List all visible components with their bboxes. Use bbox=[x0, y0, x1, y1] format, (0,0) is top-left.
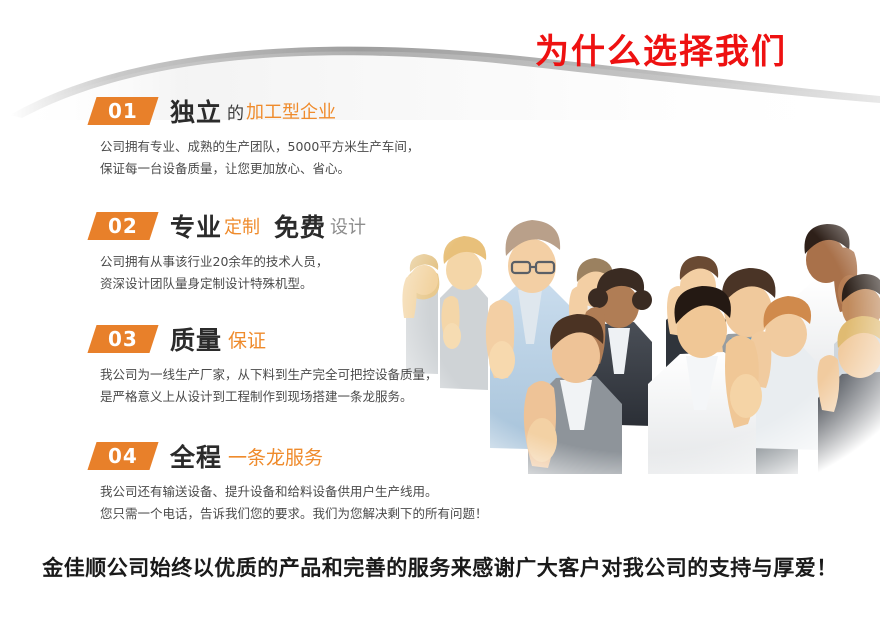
feature-number: 01 bbox=[108, 99, 138, 123]
feature-title-strong: 质量 bbox=[170, 321, 222, 357]
feature-body-line: 是严格意义上从设计到工程制作到现场搭建一条龙服务。 bbox=[100, 386, 512, 408]
feature-number: 02 bbox=[108, 214, 138, 238]
feature-title-accent: 一条龙服务 bbox=[228, 443, 323, 470]
feature-body: 我公司还有输送设备、提升设备和给料设备供用户生产线用。 您只需一个电话，告诉我们… bbox=[100, 481, 512, 525]
feature-number: 03 bbox=[108, 327, 138, 351]
feature-title-strong: 独立 bbox=[170, 93, 222, 129]
feature-number: 04 bbox=[108, 444, 138, 468]
feature-body-line: 我公司还有输送设备、提升设备和给料设备供用户生产线用。 bbox=[100, 481, 512, 503]
feature-item-01: 01 独立 的 加工型企业 公司拥有专业、成熟的生产团队，5000平方米生产车间… bbox=[92, 95, 512, 180]
team-thumbs-up-photo bbox=[398, 148, 880, 474]
feature-title-secondary-strong: 免费 bbox=[274, 208, 326, 244]
feature-heading: 01 独立 的 加工型企业 bbox=[92, 95, 512, 127]
feature-body-line: 我公司为一线生产厂家，从下料到生产完全可把控设备质量， bbox=[100, 364, 512, 386]
feature-number-badge: 01 bbox=[87, 97, 158, 125]
feature-item-02: 02 专业 定制 免费 设计 公司拥有从事该行业20余年的技术人员， 资深设计团… bbox=[92, 210, 512, 295]
feature-title-accent: 保证 bbox=[228, 326, 266, 353]
promo-banner: 为什么选择我们 bbox=[0, 0, 880, 626]
feature-body-line: 您只需一个电话，告诉我们您的要求。我们为您解决剩下的所有问题！ bbox=[100, 503, 512, 525]
feature-number-badge: 03 bbox=[87, 325, 158, 353]
feature-item-03: 03 质量 保证 我公司为一线生产厂家，从下料到生产完全可把控设备质量， 是严格… bbox=[92, 323, 512, 408]
page-title: 为什么选择我们 bbox=[535, 24, 787, 73]
feature-body: 公司拥有从事该行业20余年的技术人员， 资深设计团队量身定制设计特殊机型。 bbox=[100, 251, 512, 295]
feature-title-plain: 的 bbox=[227, 99, 244, 124]
feature-body-line: 公司拥有从事该行业20余年的技术人员， bbox=[100, 251, 512, 273]
feature-title-strong: 全程 bbox=[170, 438, 222, 474]
feature-title-secondary-gray: 设计 bbox=[330, 213, 366, 239]
feature-number-badge: 04 bbox=[87, 442, 158, 470]
feature-title-accent: 加工型企业 bbox=[246, 98, 336, 124]
feature-item-04: 04 全程 一条龙服务 我公司还有输送设备、提升设备和给料设备供用户生产线用。 … bbox=[92, 440, 512, 525]
feature-number-badge: 02 bbox=[87, 212, 158, 240]
feature-body: 我公司为一线生产厂家，从下料到生产完全可把控设备质量， 是严格意义上从设计到工程… bbox=[100, 364, 512, 408]
feature-title-accent: 定制 bbox=[224, 213, 260, 239]
feature-heading: 02 专业 定制 免费 设计 bbox=[92, 210, 512, 242]
feature-heading: 04 全程 一条龙服务 bbox=[92, 440, 512, 472]
feature-title-strong: 专业 bbox=[170, 208, 222, 244]
feature-heading: 03 质量 保证 bbox=[92, 323, 512, 355]
bottom-tagline: 金佳顺公司始终以优质的产品和完善的服务来感谢广大客户对我公司的支持与厚爱！ bbox=[0, 552, 880, 582]
feature-body: 公司拥有专业、成熟的生产团队，5000平方米生产车间， 保证每一台设备质量，让您… bbox=[100, 136, 512, 180]
feature-body-line: 公司拥有专业、成熟的生产团队，5000平方米生产车间， bbox=[100, 136, 512, 158]
feature-body-line: 保证每一台设备质量，让您更加放心、省心。 bbox=[100, 158, 512, 180]
feature-body-line: 资深设计团队量身定制设计特殊机型。 bbox=[100, 273, 512, 295]
